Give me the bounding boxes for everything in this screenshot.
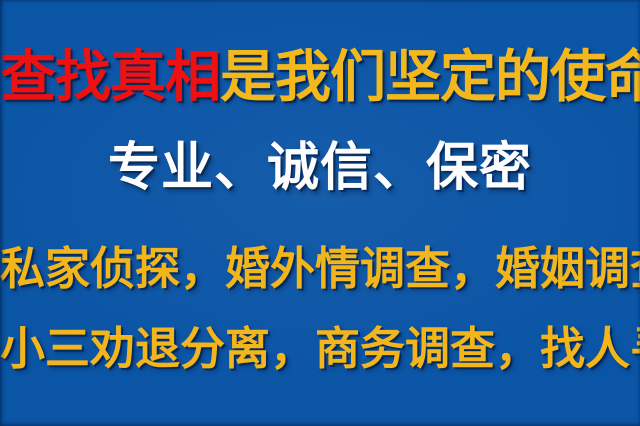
headline-emphasis-segment: 查找真相 [0, 45, 220, 110]
core-values-text: 专业、诚信、保密 [0, 142, 640, 194]
services-line-1: 私家侦探，婚外情调查，婚姻调查， [0, 246, 640, 291]
advertisement-banner: 查找真相是我们坚定的使命 专业、诚信、保密 私家侦探，婚外情调查，婚姻调查， 小… [0, 0, 640, 426]
headline-remainder-segment: 是我们坚定的使命 [220, 45, 640, 110]
headline-text: 查找真相是我们坚定的使命 [0, 50, 640, 106]
services-line-2: 小三劝退分离，商务调查，找人寻人 [0, 326, 640, 371]
